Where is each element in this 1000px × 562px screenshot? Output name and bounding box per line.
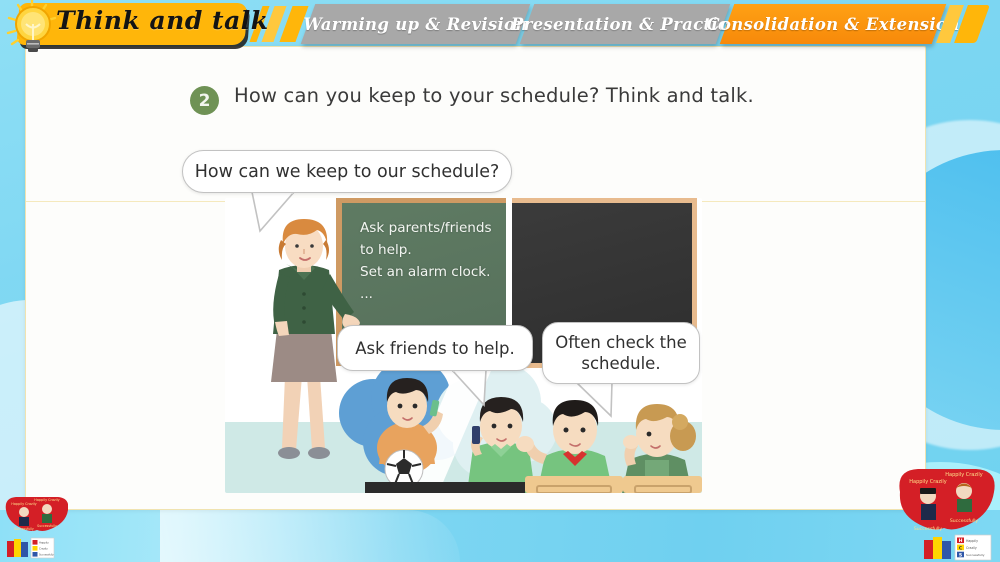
svg-text:Happily: Happily (39, 541, 49, 545)
student-answer-bubble-1: Ask friends to help. (337, 325, 533, 371)
slide-header: Think and talk Warming up & Revision Pre… (0, 0, 1000, 48)
svg-text:Successfully: Successfully (39, 554, 54, 557)
teacher-question-bubble: How can we keep to our schedule? (182, 150, 512, 193)
tab-label: Warming up & Revision (308, 4, 523, 44)
background-bottom-band (0, 510, 1000, 562)
student-bubble-2-tail (574, 381, 618, 421)
illustration: Ask parents/friends to help. Set an alar… (182, 150, 702, 495)
svg-text:Crazily: Crazily (39, 547, 48, 551)
svg-text:Happily Crazily: Happily Crazily (34, 498, 59, 502)
svg-text:Successfully: Successfully (14, 527, 34, 531)
watermark-logo-right: H C S Happily Crazily Successfully (922, 532, 994, 562)
svg-text:Happily Crazily: Happily Crazily (11, 502, 36, 506)
header-title: Think and talk (56, 6, 269, 35)
tab-presentation-practice[interactable]: Presentation & Practice (520, 4, 731, 44)
question-number-badge: 2 (190, 86, 219, 115)
tab-label: Presentation & Practice (527, 4, 723, 44)
tab-warming-up-revision[interactable]: Warming up & Revision (301, 4, 531, 44)
lightbulb-icon (2, 0, 64, 54)
tab-consolidation-extension[interactable]: Consolidation & Extension (720, 4, 947, 44)
tab-label: Consolidation & Extension (727, 4, 939, 44)
watermark-badge-left: Happily Crazily Happily Crazily Successf… (2, 494, 68, 532)
background-bottom-highlight (160, 510, 460, 562)
svg-text:Happily Crazily: Happily Crazily (945, 472, 983, 478)
watermark-logo-left: Happily Crazily Successfully (6, 536, 56, 562)
bubble-text: How can we keep to our schedule? (195, 162, 500, 182)
watermark-badge-right: Happily Crazily Happily Crazily Successf… (894, 464, 998, 536)
bubble-text: Often check the schedule. (553, 332, 689, 375)
student-answer-bubble-2: Often check the schedule. (542, 322, 700, 384)
question-block: 2 How can you keep to your schedule? Thi… (190, 84, 790, 109)
svg-text:Successfully: Successfully (950, 518, 979, 524)
svg-text:Crazily: Crazily (966, 546, 977, 550)
bubble-text: Ask friends to help. (355, 339, 515, 358)
svg-text:S: S (959, 552, 962, 558)
svg-text:Successfully: Successfully (966, 553, 985, 557)
svg-text:Happily Crazily: Happily Crazily (909, 479, 947, 485)
svg-text:H: H (959, 538, 963, 544)
svg-text:Happily: Happily (966, 539, 978, 543)
teacher-bubble-tail (250, 191, 298, 233)
student-bubble-1-tail (450, 369, 492, 409)
question-text: How can you keep to your schedule? Think… (234, 84, 790, 109)
svg-text:Successfully: Successfully (37, 524, 57, 528)
